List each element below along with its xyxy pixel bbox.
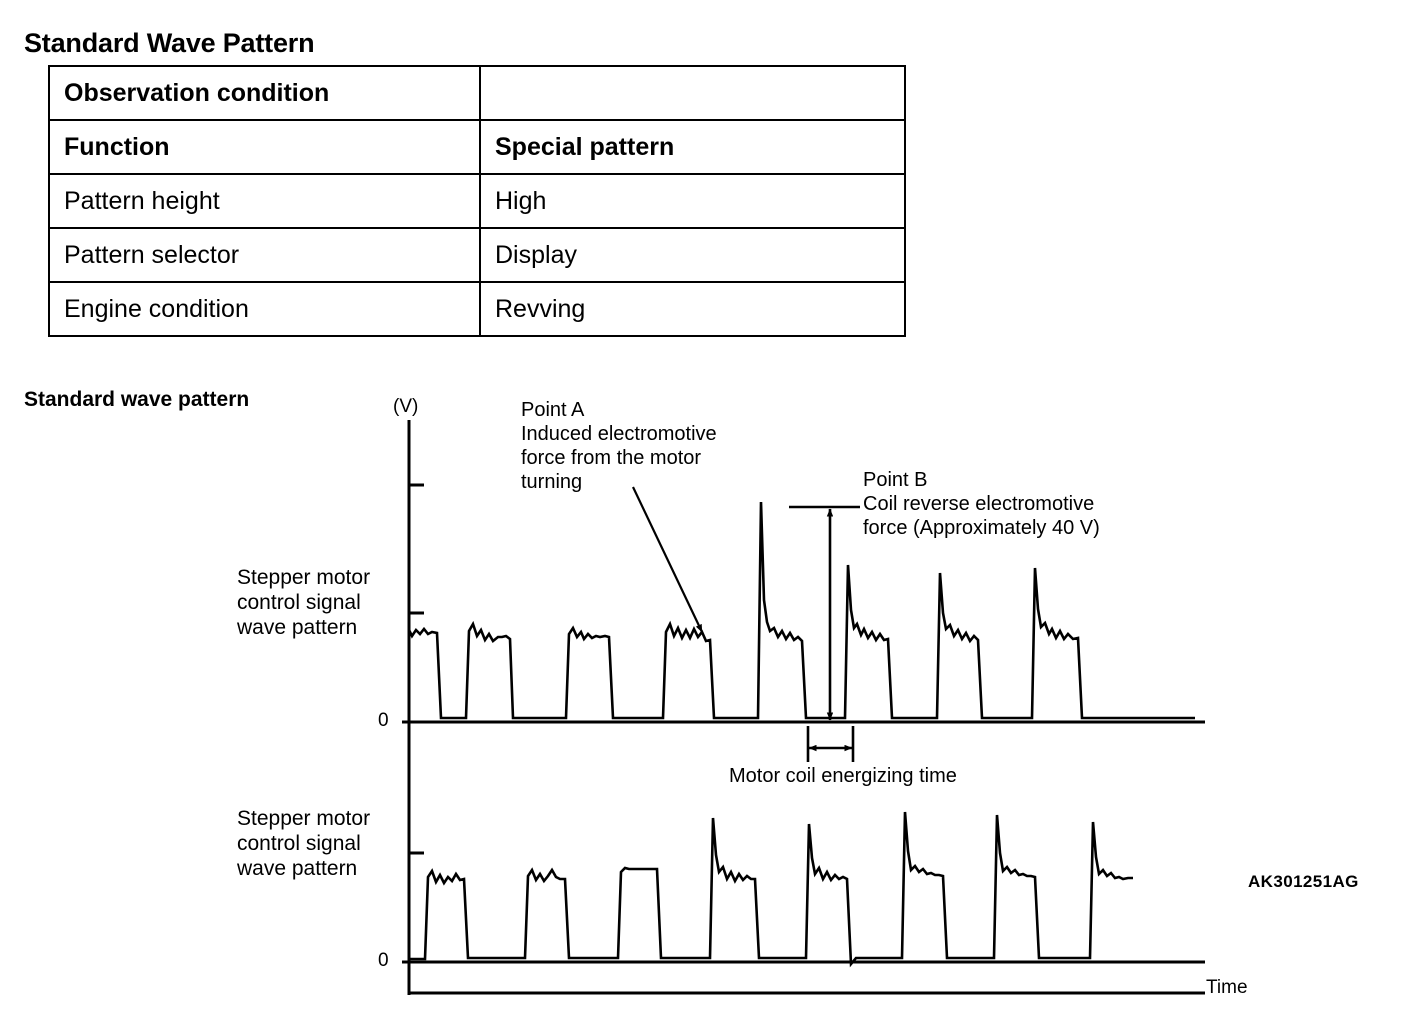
point-a-title: Point A [521,398,717,422]
point-a-line3: force from the motor [521,446,717,470]
point-a-annotation: Point A Induced electromotive force from… [521,398,717,494]
table-cell-label: Observation condition [49,66,480,120]
energizing-time-annotation: Motor coil energizing time [729,764,957,788]
table-cell-label: Engine condition [49,282,480,336]
trace1-label-line3: wave pattern [237,615,370,640]
point-a-line4: turning [521,470,717,494]
table-row: Pattern selector Display [49,228,905,282]
table-cell-value: Special pattern [480,120,905,174]
table-cell-value: High [480,174,905,228]
trace1-label-line1: Stepper motor [237,565,370,590]
table-cell-label: Function [49,120,480,174]
trace1-label-line2: control signal [237,590,370,615]
observation-condition-table: Observation condition Function Special p… [48,65,906,337]
trace2-label-line3: wave pattern [237,856,370,881]
point-b-line2: Coil reverse electromotive [863,492,1100,516]
zero-label-bottom: 0 [378,950,389,972]
table-cell-value: Display [480,228,905,282]
point-b-title: Point B [863,468,1100,492]
diagram-caption: Standard wave pattern [24,388,249,412]
trace2-label-line2: control signal [237,831,370,856]
trace2-label-line1: Stepper motor [237,806,370,831]
point-a-leader-arrow [633,487,702,632]
table-cell-value: Revving [480,282,905,336]
table-row: Function Special pattern [49,120,905,174]
time-axis-label: Time [1206,977,1248,999]
trace2-axis-label: Stepper motor control signal wave patter… [237,806,370,881]
trace1-axis-label: Stepper motor control signal wave patter… [237,565,370,640]
table-row: Engine condition Revving [49,282,905,336]
point-b-annotation: Point B Coil reverse electromotive force… [863,468,1100,540]
zero-label-top: 0 [378,710,389,732]
table-cell-label: Pattern height [49,174,480,228]
drawing-code-label: AK301251AG [1248,872,1359,892]
trace2-waveform [409,812,1133,964]
table-cell-value [480,66,905,120]
page-title: Standard Wave Pattern [24,28,314,59]
point-a-line2: Induced electromotive [521,422,717,446]
table-cell-label: Pattern selector [49,228,480,282]
point-b-line3: force (Approximately 40 V) [863,516,1100,540]
table-row: Pattern height High [49,174,905,228]
voltage-unit-label: (V) [393,396,418,418]
table-row: Observation condition [49,66,905,120]
